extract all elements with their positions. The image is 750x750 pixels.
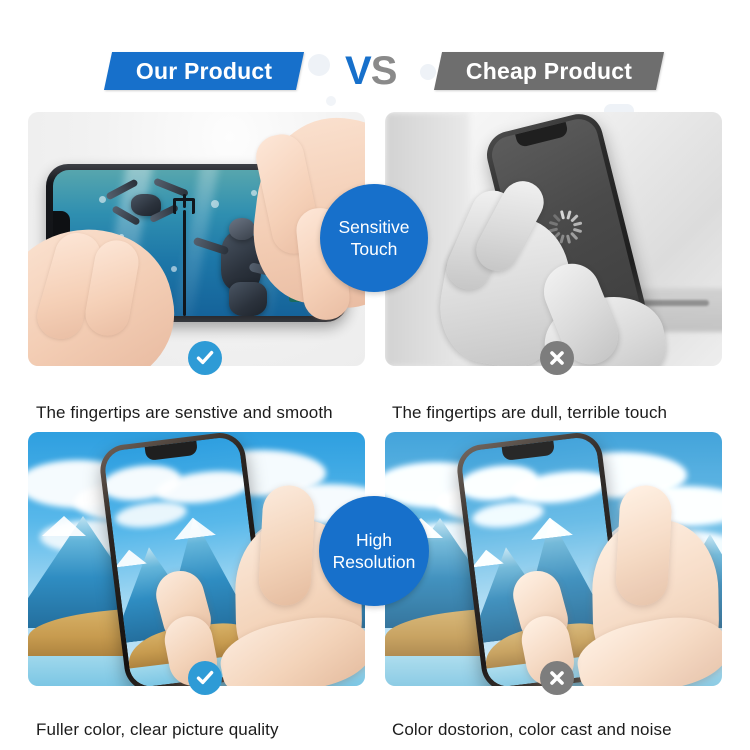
caption-bottom-right: Color dostorion, color cast and noise xyxy=(392,720,672,740)
cheap-product-label: Cheap Product xyxy=(466,58,632,85)
phone-portrait xyxy=(97,432,272,686)
decorative-dot xyxy=(308,54,330,76)
panel-bottom-left xyxy=(28,432,365,686)
comparison-infographic: Our Product VS Cheap Product xyxy=(0,0,750,750)
panel-bottom-right xyxy=(385,432,722,686)
callout-touch-line1: Sensitive xyxy=(338,216,409,238)
cross-mark-icon xyxy=(540,661,574,695)
cheap-product-badge: Cheap Product xyxy=(434,52,664,90)
vs-letter-v: V xyxy=(345,49,371,93)
cross-mark-icon xyxy=(540,341,574,375)
scene-mountain-vivid xyxy=(28,432,365,686)
thumb xyxy=(615,484,673,607)
callout-resolution-line2: Resolution xyxy=(333,551,416,573)
our-product-label: Our Product xyxy=(136,58,272,85)
header-banner: Our Product VS Cheap Product xyxy=(0,20,750,92)
check-mark-icon xyxy=(188,661,222,695)
scene-loading-phone xyxy=(385,112,722,366)
callout-sensitive-touch: Sensitive Touch xyxy=(320,184,428,292)
thumb xyxy=(258,484,316,607)
caption-top-left: The fingertips are senstive and smooth xyxy=(36,403,333,423)
our-product-badge: Our Product xyxy=(104,52,304,90)
caption-bottom-left: Fuller color, clear picture quality xyxy=(36,720,279,740)
scene-mountain-washed-out xyxy=(385,432,722,686)
photo-resolution-bad xyxy=(385,432,722,686)
check-mark-icon xyxy=(188,341,222,375)
scene-underwater-game xyxy=(28,112,365,366)
callout-high-resolution: High Resolution xyxy=(319,496,429,606)
photo-sensitive-touch-bad xyxy=(385,112,722,366)
panel-top-right xyxy=(385,112,722,366)
callout-resolution-line1: High xyxy=(333,529,416,551)
photo-sensitive-touch-good xyxy=(28,112,365,366)
phone-notch xyxy=(515,122,569,148)
decorative-dot xyxy=(420,64,436,80)
panel-top-left xyxy=(28,112,365,366)
vs-letter-s: S xyxy=(371,49,397,93)
photo-resolution-good xyxy=(28,432,365,686)
phone-portrait xyxy=(454,432,629,686)
decorative-dot xyxy=(326,96,336,106)
callout-touch-line2: Touch xyxy=(338,238,409,260)
caption-top-right: The fingertips are dull, terrible touch xyxy=(392,403,667,423)
vs-label: VS xyxy=(345,48,396,94)
